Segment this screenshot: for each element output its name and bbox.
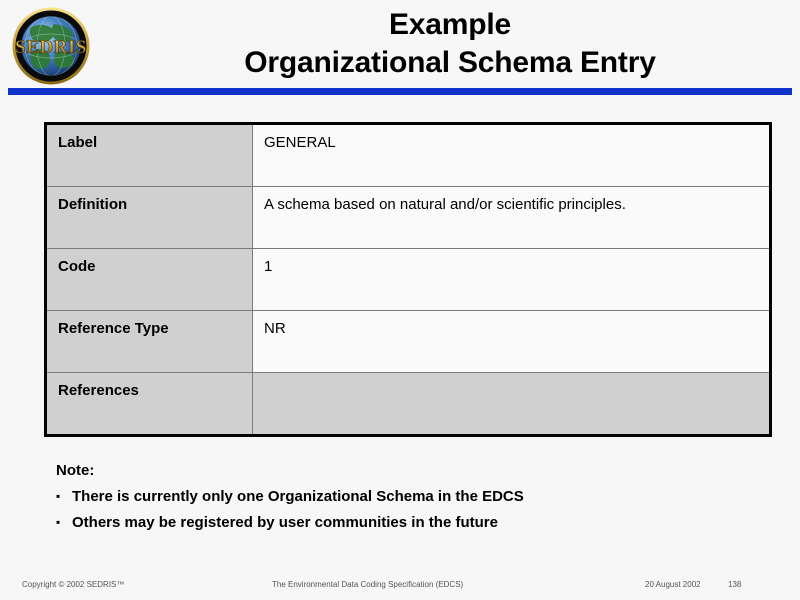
row-label-key: Label (46, 124, 253, 187)
note-item-text: Others may be registered by user communi… (72, 514, 498, 531)
footer-date: 20 August 2002 (645, 580, 701, 589)
note-section: Note: ▪ There is currently only one Orga… (56, 462, 756, 540)
row-reference-type-key: Reference Type (46, 311, 253, 373)
square-bullet-icon: ▪ (56, 488, 60, 505)
note-item-text: There is currently only one Organization… (72, 488, 524, 505)
table-row: Reference Type NR (46, 311, 771, 373)
table-row: References (46, 373, 771, 436)
table-row: Definition A schema based on natural and… (46, 187, 771, 249)
table-row: Label GENERAL (46, 124, 771, 187)
page-title: Example Organizational Schema Entry (120, 6, 780, 82)
schema-entry-table: Label GENERAL Definition A schema based … (44, 122, 772, 437)
row-label-value: GENERAL (253, 124, 771, 187)
footer-spec-title: The Environmental Data Coding Specificat… (272, 580, 463, 589)
row-references-key: References (46, 373, 253, 436)
note-list-item: ▪ There is currently only one Organizati… (56, 488, 756, 505)
note-heading: Note: (56, 462, 756, 479)
page-title-line-2: Organizational Schema Entry (120, 44, 780, 82)
square-bullet-icon: ▪ (56, 514, 60, 531)
table-row: Code 1 (46, 249, 771, 311)
row-code-value: 1 (253, 249, 771, 311)
slide-header: SEDRIS Example Organizational Schema Ent… (0, 0, 800, 96)
row-references-value (253, 373, 771, 436)
row-reference-type-value: NR (253, 311, 771, 373)
table-body: Label GENERAL Definition A schema based … (46, 124, 771, 436)
sedris-logo-icon: SEDRIS (8, 6, 94, 86)
row-definition-key: Definition (46, 187, 253, 249)
footer-copyright: Copyright © 2002 SEDRIS™ (22, 580, 124, 589)
footer-page-number: 138 (728, 580, 741, 589)
header-divider (8, 88, 792, 95)
page-title-line-1: Example (389, 8, 511, 41)
slide-footer: Copyright © 2002 SEDRIS™ The Environment… (0, 578, 800, 600)
row-definition-value: A schema based on natural and/or scienti… (253, 187, 771, 249)
note-list-item: ▪ Others may be registered by user commu… (56, 514, 756, 531)
row-code-key: Code (46, 249, 253, 311)
svg-text:SEDRIS: SEDRIS (15, 37, 87, 58)
